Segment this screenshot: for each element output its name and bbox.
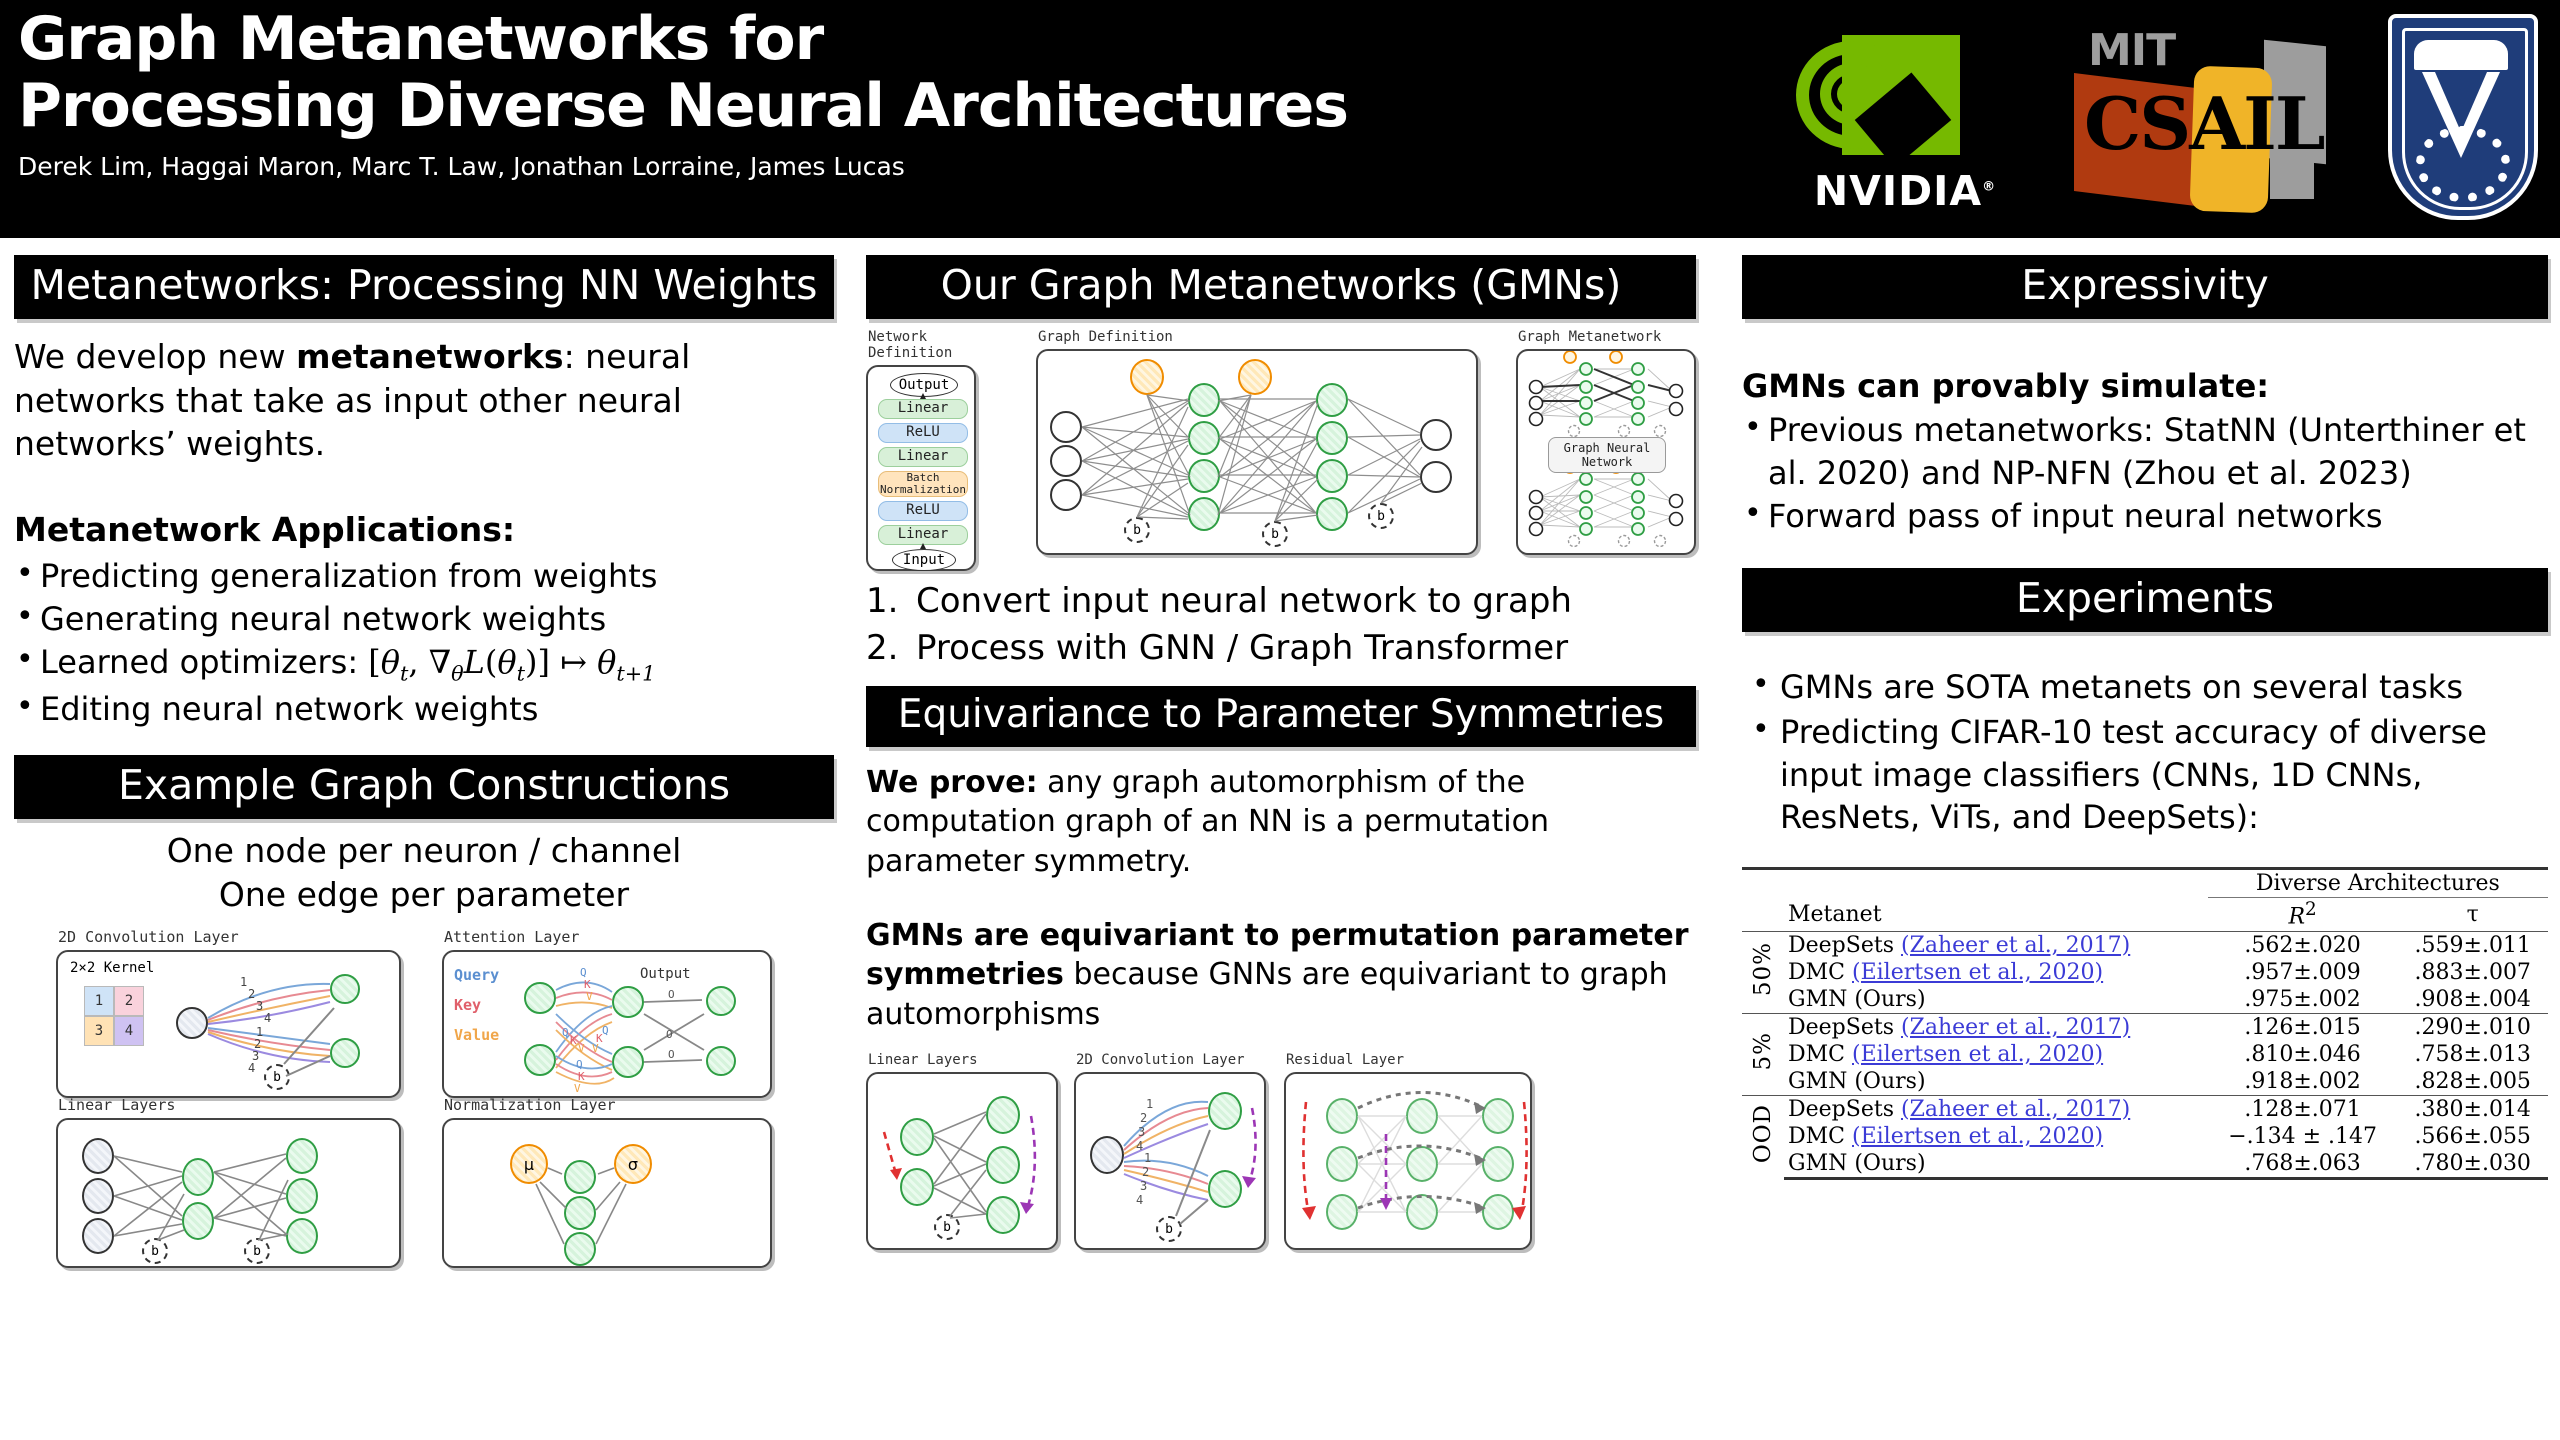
- column-left: Metanetworks: Processing NN Weights We d…: [14, 255, 834, 1268]
- svg-text:V: V: [586, 990, 593, 1003]
- svg-text:1: 1: [1146, 1097, 1153, 1111]
- app-item-3: Learned optimizers:: [40, 643, 368, 681]
- diagram-conv: 2D Convolution Layer 2×2 Kernel 1 2 3 4 …: [56, 928, 401, 1098]
- cell-tau: .883±.007: [2397, 959, 2548, 986]
- apps-list: Predicting generalization from weights G…: [14, 555, 834, 731]
- cell-tau: .908±.004: [2397, 986, 2548, 1014]
- cell-tau: .559±.011: [2397, 931, 2548, 959]
- cell-tau: .290±.010: [2397, 1013, 2548, 1041]
- cell-r2: .126±.015: [2208, 1013, 2398, 1041]
- list-item: GMNs are SOTA metanets on several tasks: [1742, 666, 2548, 709]
- graph-rules: One node per neuron / channel One edge p…: [14, 829, 834, 916]
- author-list: Derek Lim, Haggai Maron, Marc T. Law, Jo…: [18, 152, 1558, 181]
- svg-text:V: V: [578, 1042, 585, 1055]
- title-line-2: Processing Diverse Neural Architectures: [18, 73, 1558, 140]
- panel-graph-metanetwork: Graph Metanetwork: [1516, 329, 1696, 555]
- panel-network-definition-box: Output Linear ReLU Linear BatchNormaliza…: [866, 365, 976, 571]
- cell-r2: .810±.046: [2208, 1041, 2398, 1068]
- svg-text:K: K: [570, 1034, 577, 1047]
- cell-r2: .957±.009: [2208, 959, 2398, 986]
- row-name: DMC (Eilertsen et al., 2020): [1784, 1123, 2208, 1150]
- list-item: 1.Convert input neural network to graph: [866, 578, 1696, 625]
- step-number-2: 2.: [866, 625, 900, 672]
- diagram-conv-symmetry-panel: b 1234 1234: [1074, 1072, 1266, 1250]
- app-item-2: Generating neural network weights: [40, 600, 606, 638]
- linear-edges: [58, 1120, 403, 1270]
- diagram-conv-label: 2D Convolution Layer: [58, 928, 401, 946]
- svg-text:V: V: [592, 1042, 599, 1055]
- prove-bold: We prove:: [866, 765, 1038, 800]
- panel-graph-definition-label: Graph Definition: [1038, 329, 1478, 345]
- metanet-name: DeepSets: [1788, 933, 1901, 958]
- step-text-2: Process with GNN / Graph Transformer: [916, 625, 1568, 672]
- page-title: Graph Metanetworks for Processing Divers…: [18, 6, 1558, 140]
- table-row: 5% DeepSets (Zaheer et al., 2017) .126±.…: [1742, 1013, 2548, 1041]
- spacer-cell-2: [1784, 869, 2208, 898]
- svg-text:1: 1: [240, 975, 247, 989]
- stack-arrows: [868, 367, 978, 573]
- list-item: Predicting CIFAR-10 test accuracy of div…: [1742, 711, 2548, 840]
- diagram-normalization-panel: μ σ: [442, 1118, 772, 1268]
- diagram-normalization-label: Normalization Layer: [444, 1096, 772, 1114]
- optimizer-formula: [θt, ∇θL(θt)] ↦ θt+1: [368, 643, 655, 681]
- diagram-conv-symmetry-label: 2D Convolution Layer: [1076, 1052, 1266, 1068]
- list-item: Forward pass of input neural networks: [1742, 495, 2548, 538]
- app-item-1: Predicting generalization from weights: [40, 557, 657, 595]
- cell-r2: .768±.063: [2208, 1150, 2398, 1179]
- svg-text:O: O: [668, 988, 675, 1001]
- section-header-equivariance: Equivariance to Parameter Symmetries: [866, 686, 1696, 747]
- list-item: 2.Process with GNN / Graph Transformer: [866, 625, 1696, 672]
- panel-graph-definition: Graph Definition: [1036, 329, 1478, 555]
- table-row: GMN (Ours) .768±.063 .780±.030: [1742, 1150, 2548, 1179]
- normalization-edges: [444, 1120, 774, 1270]
- list-item: Predicting generalization from weights: [14, 555, 834, 598]
- group-header: Diverse Architectures: [2208, 869, 2548, 898]
- table-header-group: Diverse Architectures: [1742, 869, 2548, 898]
- list-item: Editing neural network weights: [14, 688, 834, 731]
- section-header-expressivity: Expressivity: [1742, 255, 2548, 319]
- svg-text:2: 2: [248, 987, 255, 1001]
- svg-text:1: 1: [1144, 1151, 1151, 1165]
- nvidia-wordmark: NVIDIA®: [1780, 167, 2030, 215]
- svg-text:Q: Q: [562, 1026, 569, 1039]
- row-name: DMC (Eilertsen et al., 2020): [1784, 1041, 2208, 1068]
- svg-text:4: 4: [248, 1061, 255, 1075]
- cell-tau: .828±.005: [2397, 1068, 2548, 1096]
- col-header-r2: R2: [2208, 898, 2398, 931]
- gmn-steps: 1.Convert input neural network to graph …: [866, 578, 1696, 672]
- group-label-ood: OOD: [1750, 1104, 1776, 1163]
- svg-text:3: 3: [1140, 1179, 1147, 1193]
- metanet-name: GMN (Ours): [1788, 1151, 1926, 1176]
- results-table-grid: Diverse Architectures Metanet R2 τ 50% D…: [1742, 867, 2548, 1179]
- rule-one-edge: One edge per parameter: [14, 873, 834, 917]
- cell-r2: .562±.020: [2208, 931, 2398, 959]
- cell-r2: .918±.002: [2208, 1068, 2398, 1096]
- expressivity-list: Previous metanetworks: StatNN (Unterthin…: [1742, 409, 2548, 538]
- rule-one-node: One node per neuron / channel: [14, 829, 834, 873]
- diagram-attention-label: Attention Layer: [444, 928, 772, 946]
- table-row: OOD DeepSets (Zaheer et al., 2017) .128±…: [1742, 1095, 2548, 1123]
- metanet-name: GMN (Ours): [1788, 1069, 1926, 1094]
- row-name: DeepSets (Zaheer et al., 2017): [1784, 1095, 2208, 1123]
- gnn-box: Graph NeuralNetwork: [1548, 437, 1666, 473]
- svg-text:4: 4: [264, 1011, 271, 1025]
- mit-text: MIT: [2088, 25, 2175, 76]
- diagram-residual-symmetry-label: Residual Layer: [1286, 1052, 1532, 1068]
- panel-network-definition: Network Definition Output Linear ReLU Li…: [866, 329, 976, 571]
- svg-text:4: 4: [1136, 1193, 1143, 1207]
- citation-link[interactable]: (Zaheer et al., 2017): [1901, 1097, 2130, 1122]
- poster-root: Graph Metanetworks for Processing Divers…: [0, 0, 2560, 1440]
- intro-bold: metanetworks: [296, 337, 563, 376]
- row-name: DMC (Eilertsen et al., 2020): [1784, 959, 2208, 986]
- step-text-1: Convert input neural network to graph: [916, 578, 1572, 625]
- col-header-tau: τ: [2397, 898, 2548, 931]
- cell-r2: .128±.071: [2208, 1095, 2398, 1123]
- section-header-graph-constructions: Example Graph Constructions: [14, 755, 834, 819]
- diagram-linear-symmetry: Linear Layers b: [866, 1052, 1058, 1250]
- svg-text:Q: Q: [602, 1024, 609, 1037]
- spacer-cell: [1742, 869, 1784, 898]
- attention-edges: QKV QKV KVQ QKV OOO: [444, 952, 774, 1100]
- list-item: Previous metanetworks: StatNN (Unterthin…: [1742, 409, 2548, 495]
- conv-symmetry-edges: 1234 1234: [1076, 1074, 1268, 1252]
- nvidia-pupil: [1837, 79, 1869, 109]
- list-item: Generating neural network weights: [14, 598, 834, 641]
- intro-pre: We develop new: [14, 337, 296, 376]
- metanet-name: DMC: [1788, 960, 1852, 985]
- row-name: DeepSets (Zaheer et al., 2017): [1784, 931, 2208, 959]
- table-row: GMN (Ours) .975±.002 .908±.004: [1742, 986, 2548, 1014]
- col-header-metanet: Metanet: [1784, 898, 2208, 931]
- diagram-linear-panel: b b: [56, 1118, 401, 1268]
- table-row: DMC (Eilertsen et al., 2020) .957±.009 .…: [1742, 959, 2548, 986]
- diagram-linear-label: Linear Layers: [58, 1096, 401, 1114]
- nvidia-registered-icon: ®: [1982, 179, 1996, 194]
- csail-text: CSAIL: [2084, 81, 2323, 166]
- cell-tau: .758±.013: [2397, 1041, 2548, 1068]
- citation-link[interactable]: (Eilertsen et al., 2020): [1852, 960, 2103, 985]
- nvidia-logo: NVIDIA®: [1780, 19, 2030, 219]
- section-header-gmns: Our Graph Metanetworks (GMNs): [866, 255, 1696, 319]
- diagram-linear-symmetry-panel: b: [866, 1072, 1058, 1250]
- table-column-headers: Metanet R2 τ: [1742, 898, 2548, 931]
- table-row: 50% DeepSets (Zaheer et al., 2017) .562±…: [1742, 931, 2548, 959]
- panel-graph-metanetwork-label: Graph Metanetwork: [1518, 329, 1696, 345]
- group-label-cell: OOD: [1742, 1095, 1784, 1178]
- metanet-name: DeepSets: [1788, 1015, 1901, 1040]
- diagram-conv-panel: 2×2 Kernel 1 2 3 4 b: [56, 950, 401, 1098]
- prove-paragraph: We prove: any graph automorphism of the …: [866, 763, 1696, 882]
- residual-symmetry-edges: [1286, 1074, 1534, 1252]
- step-number-1: 1.: [866, 578, 900, 625]
- column-right: Expressivity GMNs can provably simulate:…: [1742, 255, 2548, 1180]
- svg-text:O: O: [668, 1048, 675, 1061]
- logo-strip: NVIDIA® MIT CSAIL: [1780, 0, 2538, 238]
- conv-edges: 1234 1234: [58, 952, 403, 1100]
- experiments-list: GMNs are SOTA metanets on several tasks …: [1742, 666, 2548, 840]
- graph-definition-edges: [1038, 351, 1480, 557]
- mit-csail-logo: MIT CSAIL: [2074, 19, 2344, 219]
- citation-link[interactable]: (Zaheer et al., 2017): [1901, 1015, 2130, 1040]
- citation-link[interactable]: (Eilertsen et al., 2020): [1852, 1124, 2103, 1149]
- row-name: GMN (Ours): [1784, 1150, 2208, 1179]
- metanet-name: DMC: [1788, 1042, 1852, 1067]
- diagram-attention: Attention Layer Query Key Value Output: [442, 928, 772, 1098]
- diagram-linear-symmetry-label: Linear Layers: [868, 1052, 1058, 1068]
- svg-text:O: O: [666, 1028, 673, 1041]
- nvidia-wordmark-text: NVIDIA: [1814, 167, 1982, 215]
- citation-link[interactable]: (Eilertsen et al., 2020): [1852, 1042, 2103, 1067]
- group-label-cell: 5%: [1742, 1013, 1784, 1095]
- section-header-experiments: Experiments: [1742, 568, 2548, 632]
- group-label-cell: 50%: [1742, 931, 1784, 1013]
- svg-text:3: 3: [256, 999, 263, 1013]
- title-block: Graph Metanetworks for Processing Divers…: [18, 6, 1558, 181]
- cell-r2: .975±.002: [2208, 986, 2398, 1014]
- metanet-name: DMC: [1788, 1124, 1852, 1149]
- poster-header: Graph Metanetworks for Processing Divers…: [0, 0, 2560, 238]
- table-row: GMN (Ours) .918±.002 .828±.005: [1742, 1068, 2548, 1096]
- gmn-pipeline-diagram: Network Definition Output Linear ReLU Li…: [866, 329, 1696, 564]
- equivariance-paragraph: GMNs are equivariant to permutation para…: [866, 916, 1696, 1035]
- panel-graph-definition-box: b b b: [1036, 349, 1478, 555]
- intro-paragraph: We develop new metanetworks: neural netw…: [14, 335, 834, 466]
- cell-tau: .380±.014: [2397, 1095, 2548, 1123]
- technion-logo: [2388, 14, 2538, 224]
- svg-text:4: 4: [1136, 1139, 1143, 1153]
- technion-flag-icon: [2414, 40, 2508, 70]
- table-row: DMC (Eilertsen et al., 2020) .810±.046 .…: [1742, 1041, 2548, 1068]
- section-header-metanetworks: Metanetworks: Processing NN Weights: [14, 255, 834, 319]
- diagram-residual-symmetry: Residual Layer: [1284, 1052, 1532, 1250]
- results-table: Diverse Architectures Metanet R2 τ 50% D…: [1742, 867, 2548, 1179]
- panel-graph-metanetwork-box: Graph NeuralNetwork: [1516, 349, 1696, 555]
- title-line-1: Graph Metanetworks for: [18, 6, 1558, 73]
- group-label-50: 50%: [1750, 942, 1776, 996]
- diagram-attention-panel: Query Key Value Output: [442, 950, 772, 1098]
- diagram-linear: Linear Layers b b: [56, 1096, 401, 1268]
- cell-r2: −.134 ± .147: [2208, 1123, 2398, 1150]
- list-item: Learned optimizers: [θt, ∇θL(θt)] ↦ θt+1: [14, 641, 834, 688]
- svg-text:2: 2: [1142, 1165, 1149, 1179]
- cell-tau: .780±.030: [2397, 1150, 2548, 1179]
- panel-network-definition-label: Network Definition: [868, 329, 976, 361]
- diagram-conv-symmetry: 2D Convolution Layer b: [1074, 1052, 1266, 1250]
- svg-text:V: V: [574, 1082, 581, 1095]
- metanet-name: DeepSets: [1788, 1097, 1901, 1122]
- apps-heading: Metanetwork Applications:: [14, 508, 834, 552]
- table-row: DMC (Eilertsen et al., 2020) −.134 ± .14…: [1742, 1123, 2548, 1150]
- row-name: DeepSets (Zaheer et al., 2017): [1784, 1013, 2208, 1041]
- cell-tau: .566±.055: [2397, 1123, 2548, 1150]
- diagram-normalization: Normalization Layer μ σ: [442, 1096, 772, 1268]
- app-item-4: Editing neural network weights: [40, 690, 538, 728]
- symmetry-diagrams: Linear Layers b: [866, 1052, 1696, 1272]
- svg-text:2: 2: [1140, 1111, 1147, 1125]
- citation-link[interactable]: (Zaheer et al., 2017): [1901, 933, 2130, 958]
- row-name: GMN (Ours): [1784, 986, 2208, 1014]
- diagram-residual-symmetry-panel: [1284, 1072, 1532, 1250]
- metanet-name: GMN (Ours): [1788, 987, 1926, 1012]
- technion-gear-icon: [2416, 126, 2510, 202]
- expressivity-heading: GMNs can provably simulate:: [1742, 365, 2548, 407]
- svg-text:3: 3: [1138, 1125, 1145, 1139]
- column-middle: Our Graph Metanetworks (GMNs) Network De…: [866, 255, 1696, 1272]
- row-name: GMN (Ours): [1784, 1068, 2208, 1096]
- group-label-5: 5%: [1750, 1032, 1776, 1071]
- graph-construction-diagrams: 2D Convolution Layer 2×2 Kernel 1 2 3 4 …: [14, 928, 834, 1268]
- linear-symmetry-edges: [868, 1074, 1060, 1252]
- spacer-cell-3: [1742, 898, 1784, 931]
